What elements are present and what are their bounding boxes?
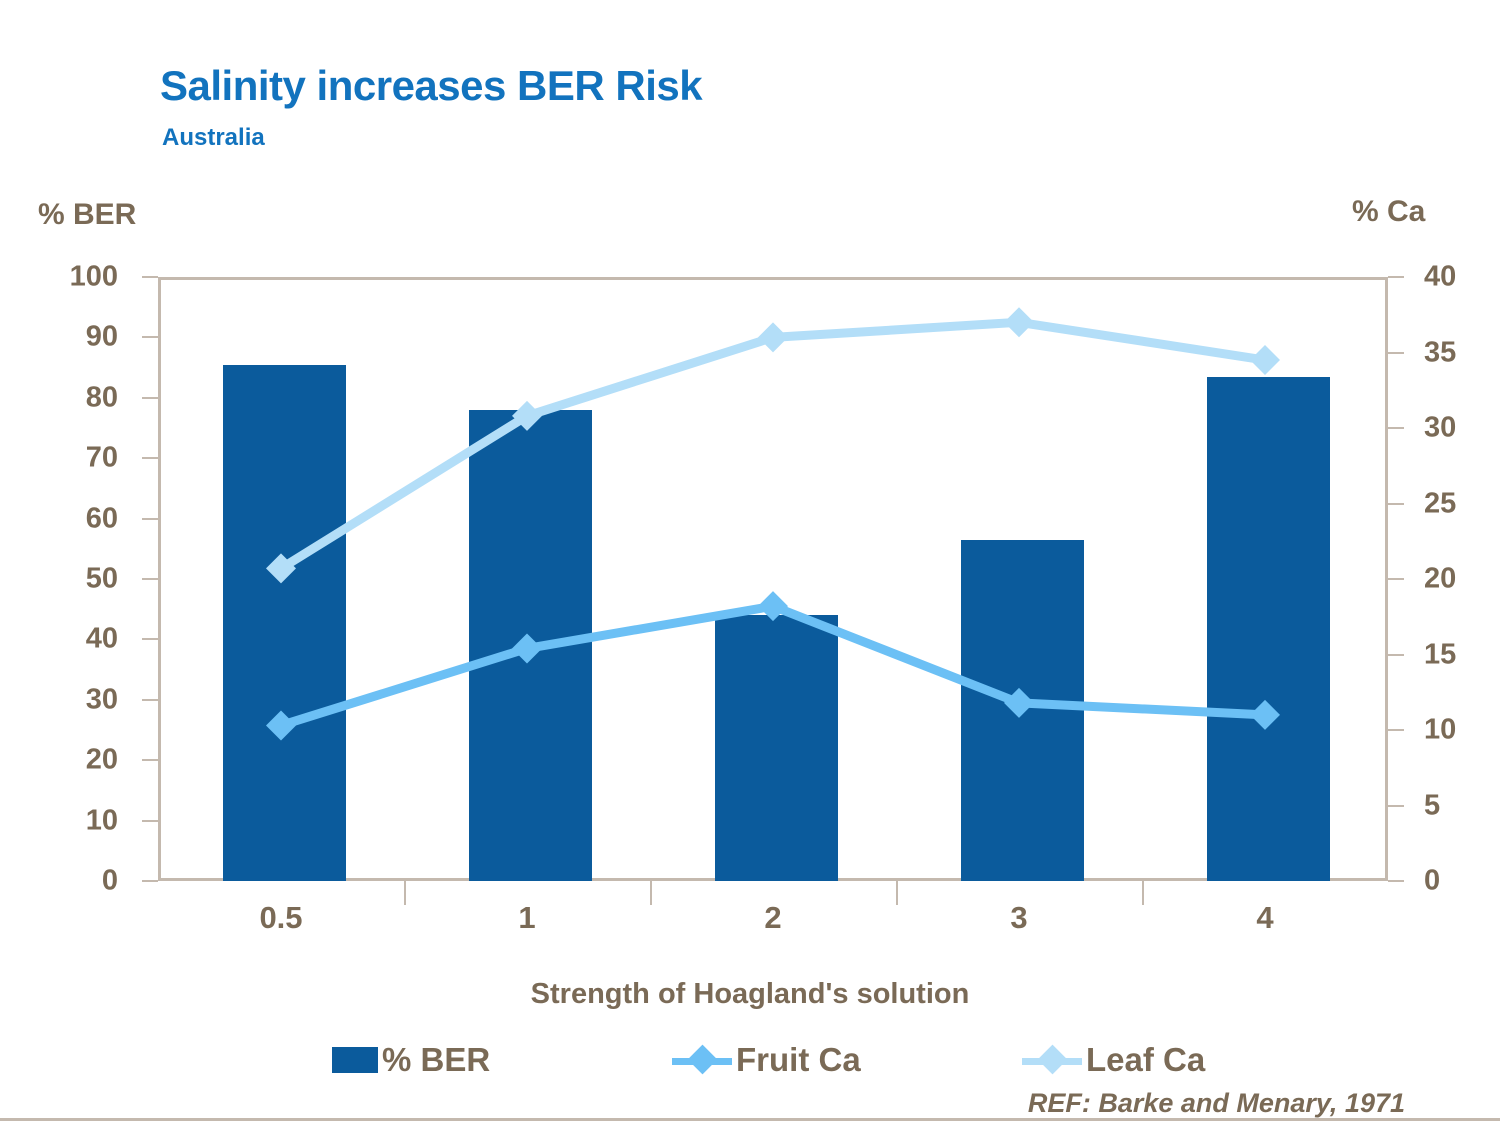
y-axis-tick-mark xyxy=(142,397,158,399)
y-axis-tick-label: 20 xyxy=(86,744,118,777)
y2-axis-tick-label: 0 xyxy=(1424,865,1440,898)
y2-axis-tick-mark xyxy=(1388,503,1404,505)
legend-label: % BER xyxy=(382,1041,490,1079)
y-axis-tick-label: 60 xyxy=(86,502,118,535)
y2-axis-tick-label: 10 xyxy=(1424,714,1456,747)
y2-axis-tick-mark xyxy=(1388,352,1404,354)
y2-axis-tick-label: 35 xyxy=(1424,336,1456,369)
y2-axis-tick-label: 25 xyxy=(1424,487,1456,520)
y-axis-tick-label: 0 xyxy=(102,865,118,898)
chart-legend: % BERFruit CaLeaf Ca xyxy=(0,1036,1500,1084)
y2-axis-tick-mark xyxy=(1388,805,1404,807)
plot-area xyxy=(158,277,1388,881)
y2-axis-tick-label: 5 xyxy=(1424,789,1440,822)
reference-note: REF: Barke and Menary, 1971 xyxy=(1028,1088,1405,1119)
bar xyxy=(223,365,346,881)
bar xyxy=(961,540,1084,881)
y2-axis-tick-label: 30 xyxy=(1424,412,1456,445)
bottom-divider xyxy=(0,1118,1500,1121)
y2-axis-tick-mark xyxy=(1388,880,1404,882)
legend-item-ber[interactable]: % BER xyxy=(332,1036,490,1084)
x-axis-tick-label: 3 xyxy=(1010,900,1027,936)
left-axis-title: % BER xyxy=(38,198,136,232)
y-axis-tick-label: 30 xyxy=(86,683,118,716)
y2-axis-tick-label: 40 xyxy=(1424,261,1456,294)
y2-axis-tick-mark xyxy=(1388,729,1404,731)
y2-axis-tick-mark xyxy=(1388,578,1404,580)
x-axis-title: Strength of Hoagland's solution xyxy=(0,978,1500,1011)
x-axis-tick-label: 4 xyxy=(1256,900,1273,936)
x-axis-tick-mark xyxy=(650,881,652,905)
x-axis-tick-label: 1 xyxy=(518,900,535,936)
right-axis-title: % Ca xyxy=(1352,195,1425,229)
legend-item-fruit-ca[interactable]: Fruit Ca xyxy=(672,1036,861,1084)
bar xyxy=(469,410,592,881)
legend-item-leaf-ca[interactable]: Leaf Ca xyxy=(1022,1036,1205,1084)
y-axis-tick-mark xyxy=(142,638,158,640)
legend-label: Leaf Ca xyxy=(1086,1041,1205,1079)
y-axis-tick-mark xyxy=(142,457,158,459)
y2-axis-tick-mark xyxy=(1388,276,1404,278)
y2-axis-tick-mark xyxy=(1388,654,1404,656)
y-axis-tick-label: 90 xyxy=(86,321,118,354)
y-axis-tick-mark xyxy=(142,699,158,701)
y-axis-tick-label: 10 xyxy=(86,804,118,837)
legend-label: Fruit Ca xyxy=(736,1041,861,1079)
legend-swatch-icon xyxy=(332,1047,378,1073)
y-axis-tick-mark xyxy=(142,276,158,278)
y-axis-tick-label: 50 xyxy=(86,563,118,596)
bar xyxy=(715,615,838,881)
y-axis-tick-mark xyxy=(142,518,158,520)
y-axis-tick-label: 80 xyxy=(86,381,118,414)
y-axis-tick-label: 100 xyxy=(70,261,118,294)
x-axis-tick-mark xyxy=(896,881,898,905)
y-axis-tick-label: 40 xyxy=(86,623,118,656)
x-axis-tick-label: 2 xyxy=(764,900,781,936)
y-axis-tick-mark xyxy=(142,820,158,822)
y-axis-tick-mark xyxy=(142,880,158,882)
y2-axis-tick-mark xyxy=(1388,427,1404,429)
x-axis-tick-label: 0.5 xyxy=(259,900,302,936)
y2-axis-tick-label: 20 xyxy=(1424,563,1456,596)
legend-line-marker-icon xyxy=(672,1047,732,1073)
y-axis-tick-mark xyxy=(142,759,158,761)
page-title: Salinity increases BER Risk xyxy=(160,62,702,110)
y-axis-tick-mark xyxy=(142,336,158,338)
bar xyxy=(1207,377,1330,881)
y-axis-tick-mark xyxy=(142,578,158,580)
y-axis-tick-label: 70 xyxy=(86,442,118,475)
x-axis-tick-mark xyxy=(1142,881,1144,905)
slide-canvas: Salinity increases BER Risk Australia % … xyxy=(0,0,1500,1126)
y2-axis-tick-label: 15 xyxy=(1424,638,1456,671)
legend-line-marker-icon xyxy=(1022,1047,1082,1073)
x-axis-tick-mark xyxy=(404,881,406,905)
chart-subtitle: Australia xyxy=(162,124,265,152)
